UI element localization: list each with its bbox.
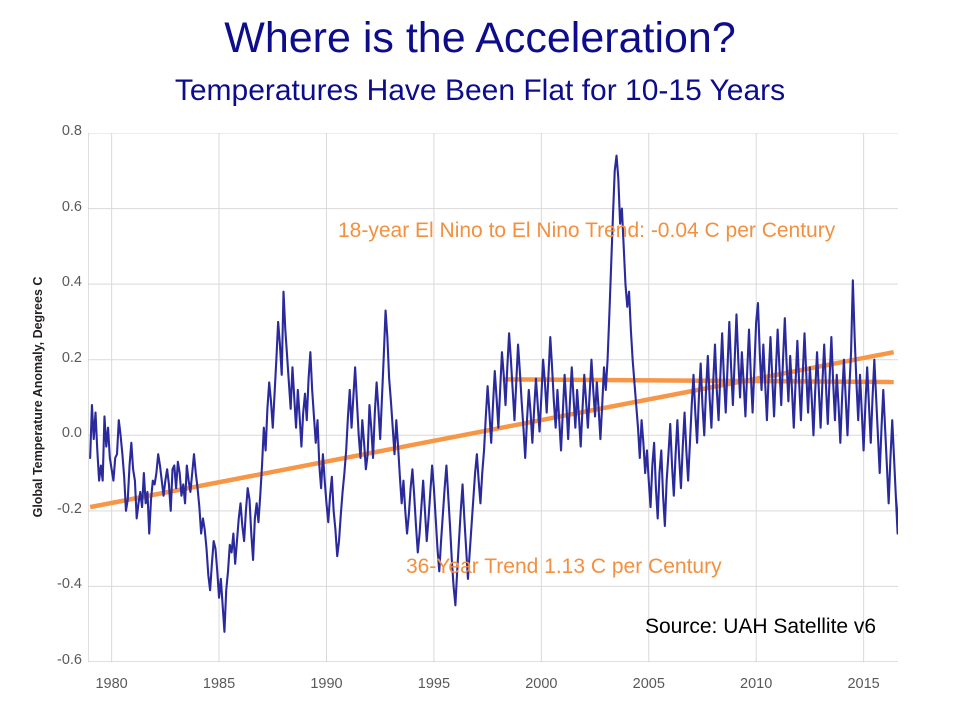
y-tick-label: -0.2	[38, 501, 82, 517]
page-title: Where is the Acceleration?	[0, 14, 960, 62]
y-tick-label: -0.6	[38, 652, 82, 668]
x-tick-label: 1990	[291, 676, 361, 692]
y-tick-label: 0.8	[38, 123, 82, 139]
y-tick-label: 0.4	[38, 274, 82, 290]
chart-plot-area	[88, 133, 898, 662]
x-tick-label: 1985	[184, 676, 254, 692]
page-subtitle: Temperatures Have Been Flat for 10-15 Ye…	[0, 74, 960, 108]
y-tick-label: 0.2	[38, 350, 82, 366]
trendline	[503, 379, 894, 382]
x-tick-label: 1995	[399, 676, 469, 692]
x-tick-label: 2015	[829, 676, 899, 692]
annotation-36-year-trend: 36-Year Trend 1.13 C per Century	[406, 555, 722, 579]
x-tick-label: 2005	[614, 676, 684, 692]
x-tick-label: 1980	[77, 676, 147, 692]
y-tick-label: 0.0	[38, 425, 82, 441]
annotation-18-year-trend: 18-year El Nino to El Nino Trend: -0.04 …	[338, 219, 835, 243]
x-tick-label: 2010	[721, 676, 791, 692]
y-tick-label: -0.4	[38, 576, 82, 592]
source-note: Source: UAH Satellite v6	[645, 615, 876, 639]
y-axis-tick-labels: 0.80.60.40.20.0-0.2-0.4-0.6	[30, 0, 82, 720]
y-tick-label: 0.6	[38, 199, 82, 215]
slide-canvas: Where is the Acceleration? Temperatures …	[0, 0, 960, 720]
x-tick-label: 2000	[506, 676, 576, 692]
